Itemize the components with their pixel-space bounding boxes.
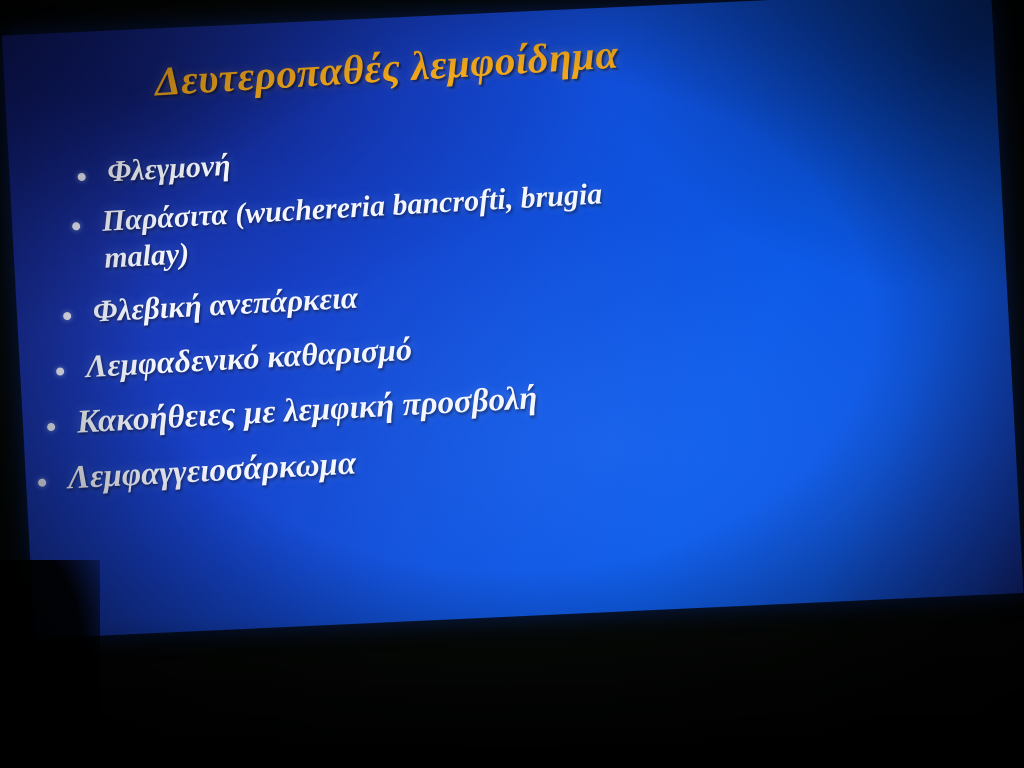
bullet-dot-icon xyxy=(63,312,71,320)
slide-title: Δευτεροπαθές λεμφοίδημα xyxy=(153,15,855,105)
foreground-shadow xyxy=(0,618,1024,768)
projection-screen: Δευτεροπαθές λεμφοίδημα Φλεγμονή Παράσιτ… xyxy=(2,0,1024,639)
slide-photo-stage: Δευτεροπαθές λεμφοίδημα Φλεγμονή Παράσιτ… xyxy=(0,0,1024,768)
slide-bullet-list: Φλεγμονή Παράσιτα (wuchereria bancrofti,… xyxy=(18,111,996,510)
bullet-dot-icon xyxy=(47,423,55,431)
slide-content: Δευτεροπαθές λεμφοίδημα Φλεγμονή Παράσιτ… xyxy=(2,0,1024,639)
